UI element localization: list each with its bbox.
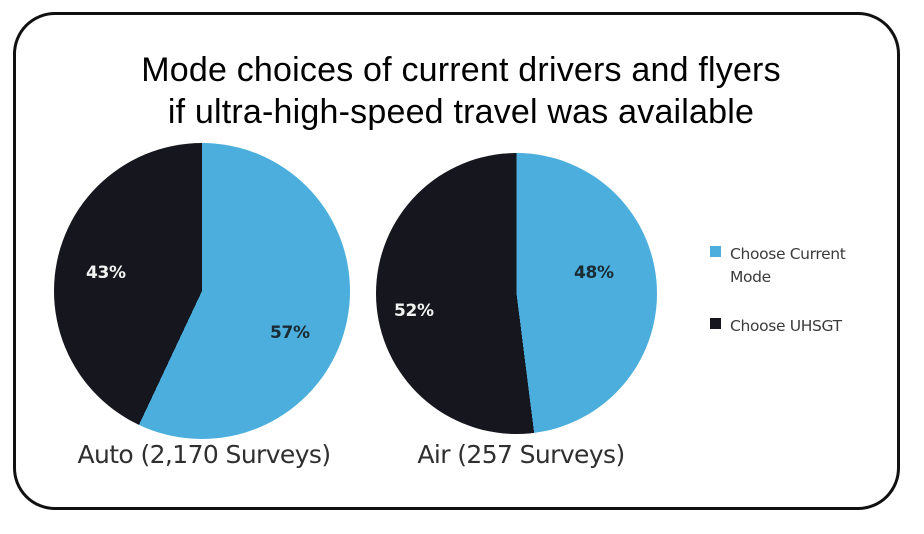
chart-legend: Choose Current Mode Choose UHSGT xyxy=(710,243,890,364)
pie-auto-category-label: Auto (2,170 Surveys) xyxy=(34,440,374,469)
legend-swatch-icon-current-mode xyxy=(710,246,721,257)
chart-title-line-1: Mode choices of current drivers and flye… xyxy=(56,49,866,91)
chart-title: Mode choices of current drivers and flye… xyxy=(56,49,866,133)
chart-title-line-2: if ultra-high-speed travel was available xyxy=(56,91,866,133)
legend-item-choose-uhsgt[interactable]: Choose UHSGT xyxy=(710,315,890,338)
legend-item-choose-current-mode[interactable]: Choose Current Mode xyxy=(710,243,890,289)
pie-chart-auto: 43% 57% xyxy=(54,143,354,443)
pie-air-category-label: Air (257 Surveys) xyxy=(361,440,681,469)
pie-auto-label-current: 57% xyxy=(270,323,310,343)
legend-swatch-icon-uhsgt xyxy=(710,318,721,329)
pie-air-label-current: 48% xyxy=(574,263,614,283)
pie-auto-label-uhsgt: 43% xyxy=(86,263,126,283)
legend-label-current-mode: Choose Current Mode xyxy=(730,243,880,289)
pie-auto-slices xyxy=(54,143,350,439)
chart-frame: Mode choices of current drivers and flye… xyxy=(13,12,900,510)
legend-label-uhsgt: Choose UHSGT xyxy=(730,315,842,338)
pie-chart-air: 48% 52% xyxy=(376,153,661,438)
pie-air-label-uhsgt: 52% xyxy=(394,301,434,321)
pie-air-slices xyxy=(376,153,657,434)
